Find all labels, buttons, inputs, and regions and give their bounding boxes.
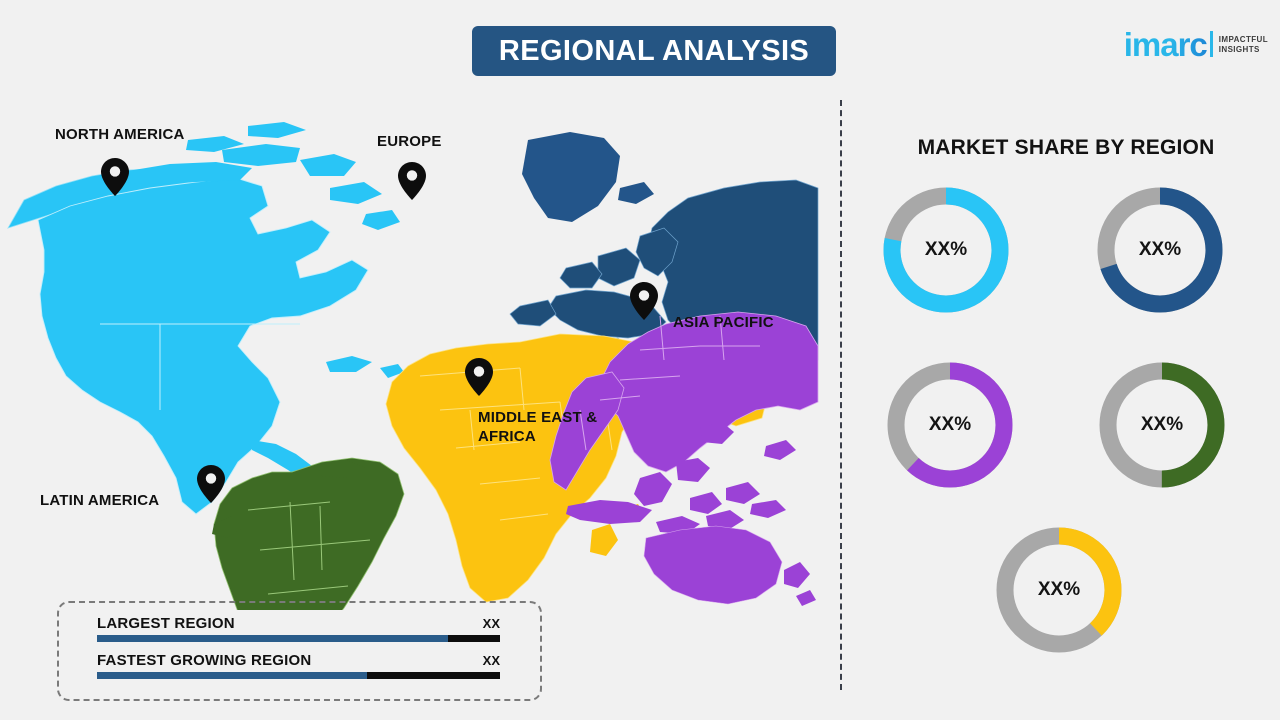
legend-bar-track — [97, 635, 500, 642]
donut-chart: XX% — [995, 526, 1123, 654]
donut-chart: XX% — [1096, 186, 1224, 314]
vertical-dashed-divider — [840, 100, 842, 690]
donut-chart: XX% — [882, 186, 1010, 314]
map-pin-icon-europe[interactable] — [398, 162, 426, 205]
logo-tagline: IMPACTFUL INSIGHTS — [1219, 35, 1268, 55]
map-region-latin-america — [212, 458, 404, 610]
map-label-latin-america: LATIN AMERICA — [40, 492, 159, 511]
map-region-north-america — [8, 122, 404, 514]
legend-row-largest-region: LARGEST REGION XX — [97, 615, 500, 642]
map-pin-icon-north-america[interactable] — [101, 158, 129, 201]
map-pin-icon-latin-america[interactable] — [197, 465, 225, 508]
logo-separator — [1210, 31, 1213, 57]
market-share-panel: MARKET SHARE BY REGION XX% XX% XX% XX% X… — [860, 110, 1272, 680]
imarc-logo: imarc IMPACTFUL INSIGHTS — [1124, 20, 1268, 60]
legend-value: XX — [483, 653, 500, 668]
page-title-banner: REGIONAL ANALYSIS — [472, 26, 836, 76]
donut-value-label: XX% — [1098, 361, 1226, 489]
map-pin-icon-asia-pacific[interactable] — [630, 282, 658, 325]
donut-value-label: XX% — [1096, 186, 1224, 314]
map-label-europe: EUROPE — [377, 133, 442, 152]
legend-bar-fill — [97, 672, 367, 679]
map-label-middle-east-africa: MIDDLE EAST & AFRICA — [478, 409, 638, 447]
donut-value-label: XX% — [886, 361, 1014, 489]
donut-value-label: XX% — [995, 526, 1123, 654]
logo-tagline-line2: INSIGHTS — [1219, 45, 1260, 54]
map-pin-icon-middle-east-africa[interactable] — [465, 358, 493, 401]
logo-wordmark: imarc — [1124, 29, 1207, 60]
legend-bar-track — [97, 672, 500, 679]
map-label-north-america: NORTH AMERICA — [55, 126, 185, 145]
legend-label: FASTEST GROWING REGION — [97, 652, 311, 669]
legend-bar-fill — [97, 635, 448, 642]
donut-chart: XX% — [886, 361, 1014, 489]
page-title: REGIONAL ANALYSIS — [499, 35, 809, 68]
map-region-greenland — [522, 132, 654, 222]
map-label-asia-pacific: ASIA PACIFIC — [673, 314, 774, 333]
logo-tagline-line1: IMPACTFUL — [1219, 35, 1268, 44]
panel-title: MARKET SHARE BY REGION — [860, 136, 1272, 160]
donut-chart: XX% — [1098, 361, 1226, 489]
legend-value: XX — [483, 616, 500, 631]
legend-label: LARGEST REGION — [97, 615, 235, 632]
legend-row-fastest-growing-region: FASTEST GROWING REGION XX — [97, 652, 500, 679]
donut-value-label: XX% — [882, 186, 1010, 314]
legend-box: LARGEST REGION XX FASTEST GROWING REGION… — [57, 601, 542, 701]
